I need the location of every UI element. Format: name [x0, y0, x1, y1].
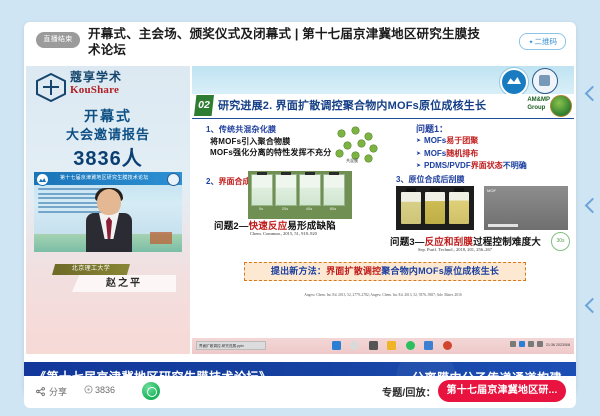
- list-item: MOFs随机排布: [416, 148, 527, 161]
- slide-section3-reference: Sep. Purif. Technol., 2018, 201, 256–267: [418, 247, 492, 252]
- start-icon: [332, 341, 341, 350]
- video-player[interactable]: 蔻享学术 KouShare 开幕式 大会邀请报告 3836人 第十七届京津冀地区…: [24, 62, 576, 362]
- video-banner-text: 第十七届京津冀地区研究生膜技术论坛: [60, 173, 148, 184]
- network-icon: [519, 341, 525, 347]
- list-item: PDMS/PVDF界面状态不明确: [416, 160, 527, 173]
- speaker-video-thumbnail: 第十七届京津冀地区研究生膜技术论坛: [34, 172, 182, 252]
- vial-label: 20s: [275, 206, 295, 211]
- volume-icon: [528, 341, 534, 347]
- file-explorer-icon: [369, 341, 378, 350]
- mof-blend-membrane-figure: 共混膜: [332, 124, 384, 164]
- sem-image: MOF: [484, 186, 568, 230]
- topic-label: 专题/回放：: [382, 384, 436, 399]
- view-count-value: 3836: [95, 385, 115, 395]
- chevron-left-icon[interactable]: [585, 198, 600, 214]
- topic-replay-button[interactable]: 第十七届京津冀地区研...: [438, 380, 566, 402]
- slide-footnotes: Angew. Chem. Int. Ed. 2013, 52, 2779–278…: [192, 290, 574, 308]
- group-logo-text: AM&MP Group: [527, 97, 550, 112]
- vial-label: 40s: [299, 206, 319, 211]
- eye-icon: [84, 385, 93, 396]
- koushare-logo-icon: [34, 72, 68, 102]
- interfacial-synthesis-photo: 0s 20s 40s 80s: [248, 171, 352, 219]
- koushare-name-en: KouShare: [70, 84, 122, 96]
- mof-figure-caption: 共混膜: [346, 158, 358, 164]
- star-icon: ✦: [528, 40, 533, 46]
- slide-section2-heading: 2、界面合成: [206, 176, 250, 187]
- forum-logo-icon: [36, 173, 49, 186]
- presentation-slide: 02 研究进展2. 界面扩散调控聚合物内MOFs原位成核生长 AM&MP Gro…: [192, 66, 574, 354]
- slide-title-bar: 02 研究进展2. 界面扩散调控聚合物内MOFs原位成核生长 AM&MP Gro…: [192, 94, 574, 119]
- camera-line-1: 开幕式: [26, 106, 190, 126]
- slide-header-band: [192, 66, 574, 94]
- slide-question1-list: MOFs易于团聚 MOFs随机排布 PDMS/PVDF界面状态不明确: [416, 135, 527, 173]
- forum-logo-icon: [500, 68, 528, 96]
- qr-code-button[interactable]: ✦二维码: [519, 33, 566, 50]
- share-label: 分享: [49, 387, 67, 397]
- search-icon: [350, 341, 359, 350]
- camera-line-2: 大会邀请报告: [26, 124, 190, 143]
- taskbar-tray[interactable]: 21:36 2023/5/8: [510, 341, 570, 347]
- slide-section1-heading: 1、传统共混杂化膜: [206, 124, 276, 135]
- os-taskbar: 界面扩散调控-研究进展.pptx 21:36 2023/5/8: [192, 338, 574, 354]
- university-seal-icon: [167, 173, 180, 186]
- share-icon: [36, 387, 45, 398]
- sem-label: MOF: [487, 188, 496, 193]
- live-replay-page: 直播结束 开幕式、主会场、颁奖仪式及闭幕式 | 第十七届京津冀地区研究生膜技术论…: [0, 0, 600, 416]
- browser-icon: [443, 341, 452, 350]
- taskbar-file-chip[interactable]: 界面扩散调控-研究进展.pptx: [196, 341, 266, 350]
- slide-title: 研究进展2. 界面扩散调控聚合物内MOFs原位成核生长: [218, 96, 486, 116]
- slide-section1-body: 将MOFs引入聚合物膜 MOFs强化分离的特性发挥不充分: [210, 136, 331, 158]
- taskbar-icons[interactable]: [332, 341, 457, 354]
- folder-icon: [387, 341, 396, 350]
- speaker-name-plate: 赵之平: [72, 275, 176, 292]
- vial-label: 0s: [251, 206, 271, 211]
- wechat-icon[interactable]: [142, 382, 160, 400]
- group-logo-icon: [550, 95, 572, 117]
- slide-section3-heading: 3、原位合成后刮膜: [396, 174, 464, 185]
- app-icon: [424, 341, 433, 350]
- card-footer: 分享 3836 专题/回放： 第十七届京津冀地区研...: [24, 376, 576, 408]
- speaker-camera-panel: 蔻享学术 KouShare 开幕式 大会邀请报告 3836人 第十七届京津冀地区…: [26, 66, 190, 354]
- view-count: 3836: [84, 385, 115, 396]
- qr-code-label: 二维码: [535, 37, 558, 46]
- slide-section3-caption: 问题3—反应和刮膜过程控制难度大: [390, 234, 541, 248]
- camera-attendee-count: 3836人: [26, 142, 190, 171]
- koushare-name-cn: 蔻享学术: [70, 71, 122, 84]
- chevron-up-icon: [510, 341, 516, 347]
- slide-new-method-callout: 提出新方法：界面扩散调控聚合物内MOFs原位成核生长: [244, 262, 526, 281]
- taskbar-clock: 21:36: [546, 343, 555, 347]
- video-forum-banner: 第十七届京津冀地区研究生膜技术论坛: [34, 172, 182, 185]
- slide-section2-reference: Chem. Commun., 2015, 51, 918–920: [250, 231, 317, 236]
- speaker-university: 北京理工大学: [52, 264, 130, 275]
- speaker-nameplate: 北京理工大学 赵之平: [42, 264, 176, 294]
- timing-stamp: 30s: [551, 232, 570, 251]
- video-building-art: [150, 232, 172, 244]
- speaker-figure: [86, 189, 132, 252]
- slide-question1-heading: 问题1：: [416, 122, 448, 135]
- card-header: 直播结束 开幕式、主会场、颁奖仪式及闭幕式 | 第十七届京津冀地区研究生膜技术论…: [24, 22, 576, 62]
- university-seal-icon: [532, 68, 558, 94]
- live-status-badge: 直播结束: [36, 32, 80, 48]
- wechat-icon: [406, 341, 415, 350]
- page-title: 开幕式、主会场、颁奖仪式及闭幕式 | 第十七届京津冀地区研究生膜技术论坛: [88, 26, 488, 58]
- share-button[interactable]: 分享: [36, 385, 67, 398]
- koushare-wordmark: 蔻享学术 KouShare: [70, 71, 122, 96]
- slide-section3-figures: MOF: [396, 186, 568, 230]
- vial-label: 80s: [323, 206, 343, 211]
- battery-icon: [537, 341, 543, 347]
- list-item: MOFs易于团聚: [416, 135, 527, 148]
- taskbar-date: 2023/5/8: [556, 343, 570, 347]
- vials-photo: [396, 186, 474, 230]
- slide-section2-caption: 问题2—快速反应易形成缺陷: [214, 218, 336, 232]
- chevron-left-icon[interactable]: [585, 298, 600, 314]
- slide-section-number: 02: [194, 95, 214, 116]
- speaker-name: 赵之平: [72, 275, 176, 292]
- chevron-left-icon[interactable]: [585, 86, 600, 102]
- video-card: 直播结束 开幕式、主会场、颁奖仪式及闭幕式 | 第十七届京津冀地区研究生膜技术论…: [24, 22, 576, 394]
